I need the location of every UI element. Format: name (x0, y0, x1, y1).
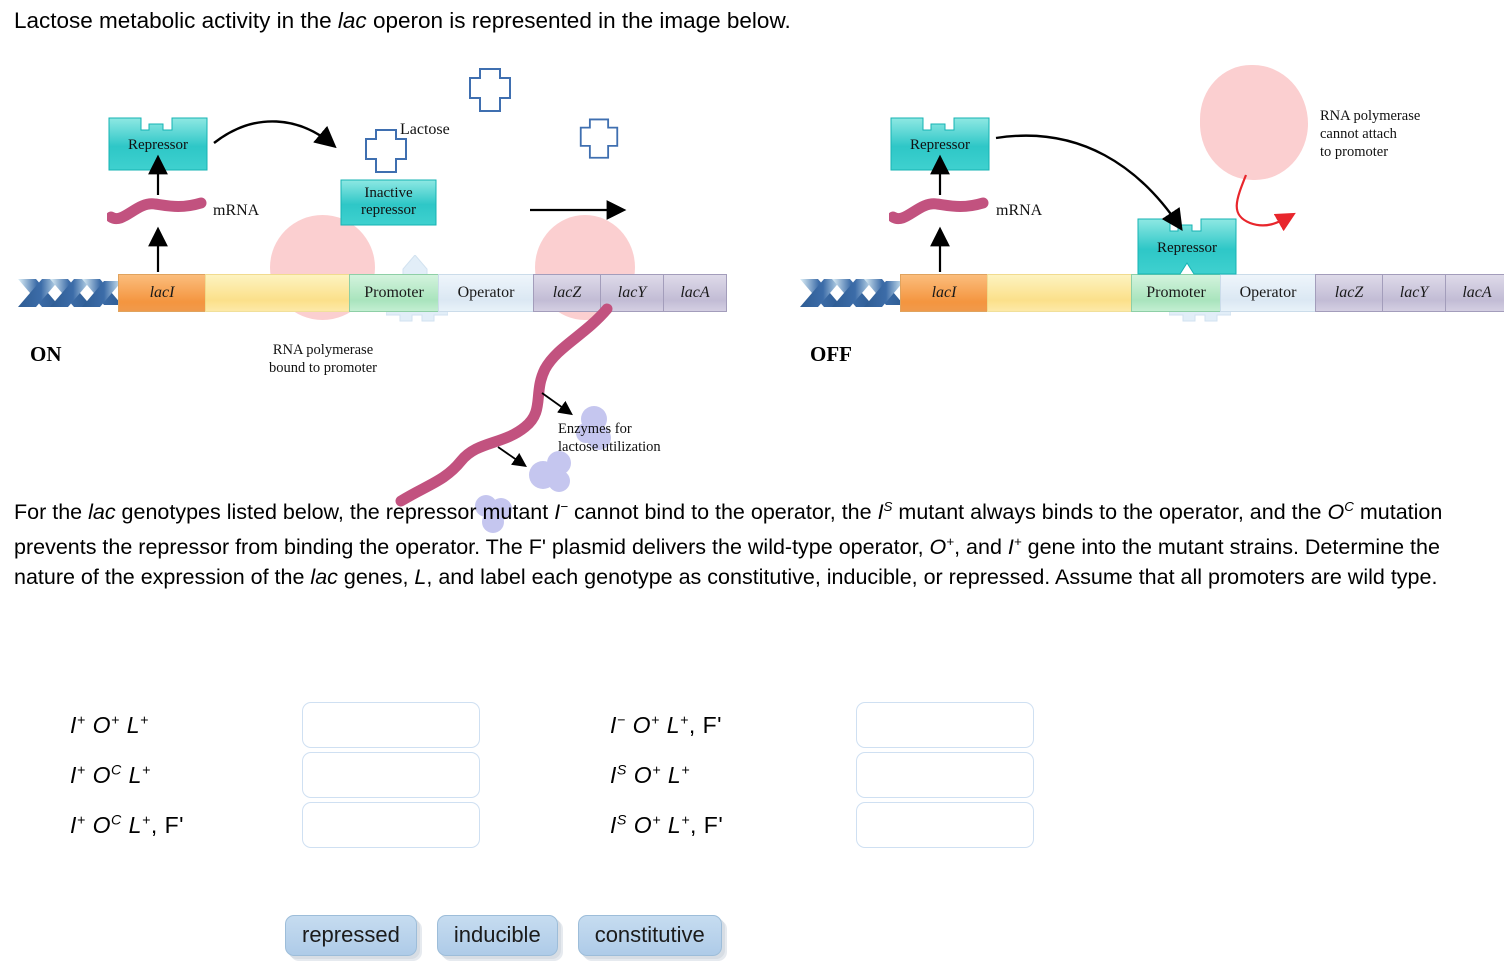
page-title: Lactose metabolic activity in the lac op… (14, 8, 791, 34)
chip-wrap: constitutive (578, 915, 722, 956)
gene-spacer-off (987, 274, 1132, 312)
repressor-protein-left: Repressor (108, 117, 208, 177)
intro-text-pre: Lactose metabolic activity in the (14, 8, 338, 33)
genotype-row: I− O+ L+, F' (610, 700, 723, 750)
enzymes-note-line2: lactose utilization (558, 438, 703, 456)
q-s7: O (1328, 500, 1345, 524)
lactose-label: Lactose (400, 120, 450, 140)
diagram-panel-off: lacI Promoter Operator lacZ lacY lacA Re… (780, 55, 1504, 485)
bound-repressor-label: Repressor (1137, 240, 1237, 257)
answer-chip-tray: repressed inducible constitutive (285, 915, 722, 956)
q-s10: , and (954, 535, 1008, 559)
q-s4: cannot bind to the operator, the (568, 500, 878, 524)
q-s9sup: + (946, 534, 954, 549)
repressor-bound-to-operator: Repressor (1137, 218, 1237, 280)
gene-laca-off: lacA (1445, 274, 1504, 312)
polymerase-note-left-line1: RNA polymerase (225, 341, 421, 359)
answer-dropbox[interactable] (302, 702, 480, 748)
polymerase-note-right: RNA polymerase cannot attach to promoter (1320, 107, 1500, 161)
dna-helix-left-end-off (798, 271, 904, 315)
polymerase-note-right-line1: RNA polymerase (1320, 107, 1500, 125)
repressor-label-left: Repressor (108, 137, 208, 154)
q-s2: genotypes listed below, the repressor mu… (116, 500, 555, 524)
genotype-label: I+ O+ L+ (70, 712, 149, 739)
q-s14: L (414, 565, 426, 589)
genotype-label: I− O+ L+, F' (610, 712, 722, 739)
intro-text-italic: lac (338, 8, 367, 33)
polymerase-note-left-line2: bound to promoter (225, 359, 421, 377)
state-label-on: ON (30, 342, 62, 367)
gene-spacer (205, 274, 350, 312)
answer-dropbox[interactable] (856, 702, 1034, 748)
answer-chip-inducible[interactable]: inducible (437, 915, 558, 956)
genotype-row: IS O+ L+, F' (610, 800, 723, 850)
answer-dropbox[interactable] (302, 802, 480, 848)
genotype-label: I+ OC L+, F' (70, 812, 184, 839)
polymerase-note-left: RNA polymerase bound to promoter (225, 341, 421, 377)
chip-wrap: inducible (437, 915, 558, 956)
q-s3sup: − (560, 499, 568, 514)
dna-helix-left-end (16, 271, 122, 315)
q-s11sup: + (1014, 534, 1022, 549)
gene-laca: lacA (663, 274, 727, 312)
answer-chip-repressed[interactable]: repressed (285, 915, 417, 956)
intro-text-post: operon is represented in the image below… (367, 8, 791, 33)
mrna-squiggle-left (107, 195, 207, 232)
q-s6: mutant always binds to the operator, and… (892, 500, 1327, 524)
genotype-row: I+ OC L+, F' (70, 800, 184, 850)
gene-laci: lacI (118, 274, 206, 312)
gene-lacz-off: lacZ (1315, 274, 1383, 312)
inactive-repressor-line1: Inactive (340, 185, 437, 202)
genotype-row: IS O+ L+ (610, 750, 723, 800)
question-paragraph: For the lac genotypes listed below, the … (14, 492, 1486, 592)
lactose-molecule-free-1 (467, 67, 513, 120)
mrna-squiggle-right (889, 195, 989, 232)
genotype-label: I+ OC L+ (70, 762, 151, 789)
exercise-page: Lactose metabolic activity in the lac op… (0, 0, 1504, 976)
gene-lacy-off: lacY (1382, 274, 1446, 312)
genotype-row: I+ O+ L+ (70, 700, 184, 750)
genotype-row: I+ OC L+ (70, 750, 184, 800)
genotype-column-right: I− O+ L+, F' IS O+ L+ IS O+ L+, F' (610, 700, 723, 850)
enzymes-note-line1: Enzymes for (558, 420, 703, 438)
polymerase-note-right-line2: cannot attach (1320, 125, 1500, 143)
q-s9: O (930, 535, 947, 559)
repressor-protein-right: Repressor (890, 117, 990, 177)
answer-chip-constitutive[interactable]: constitutive (578, 915, 722, 956)
q-s1: For the (14, 500, 88, 524)
answer-dropbox[interactable] (856, 802, 1034, 848)
answer-dropbox[interactable] (302, 752, 480, 798)
q-s1i: lac (88, 500, 115, 524)
repressor-label-right: Repressor (890, 137, 990, 154)
diagram-panel-on: lacI Promoter Operator lacZ lacY lacA Re… (0, 55, 760, 485)
gene-laci-off: lacI (900, 274, 988, 312)
q-s15: , and label each genotype as constitutiv… (426, 565, 1437, 589)
answer-dropbox[interactable] (856, 752, 1034, 798)
inactive-repressor-label: Inactive repressor (340, 185, 437, 219)
genotype-column-left: I+ O+ L+ I+ OC L+ I+ OC L+, F' (70, 700, 184, 850)
genotype-label: IS O+ L+, F' (610, 812, 723, 839)
q-s7sup: C (1344, 499, 1354, 514)
polymerase-note-right-line3: to promoter (1320, 143, 1500, 161)
q-s12i: lac (310, 565, 337, 589)
chip-wrap: repressed (285, 915, 417, 956)
rna-polymerase-blob-detached (1200, 65, 1308, 180)
genotype-label: IS O+ L+ (610, 762, 690, 789)
q-s13: genes, (338, 565, 415, 589)
mrna-label-right: mRNA (996, 201, 1042, 221)
mrna-label-left: mRNA (213, 201, 259, 221)
enzymes-note: Enzymes for lactose utilization (558, 420, 703, 456)
state-label-off: OFF (810, 342, 852, 367)
inactive-repressor-line2: repressor (340, 202, 437, 219)
lactose-molecule-free-2 (578, 117, 620, 167)
